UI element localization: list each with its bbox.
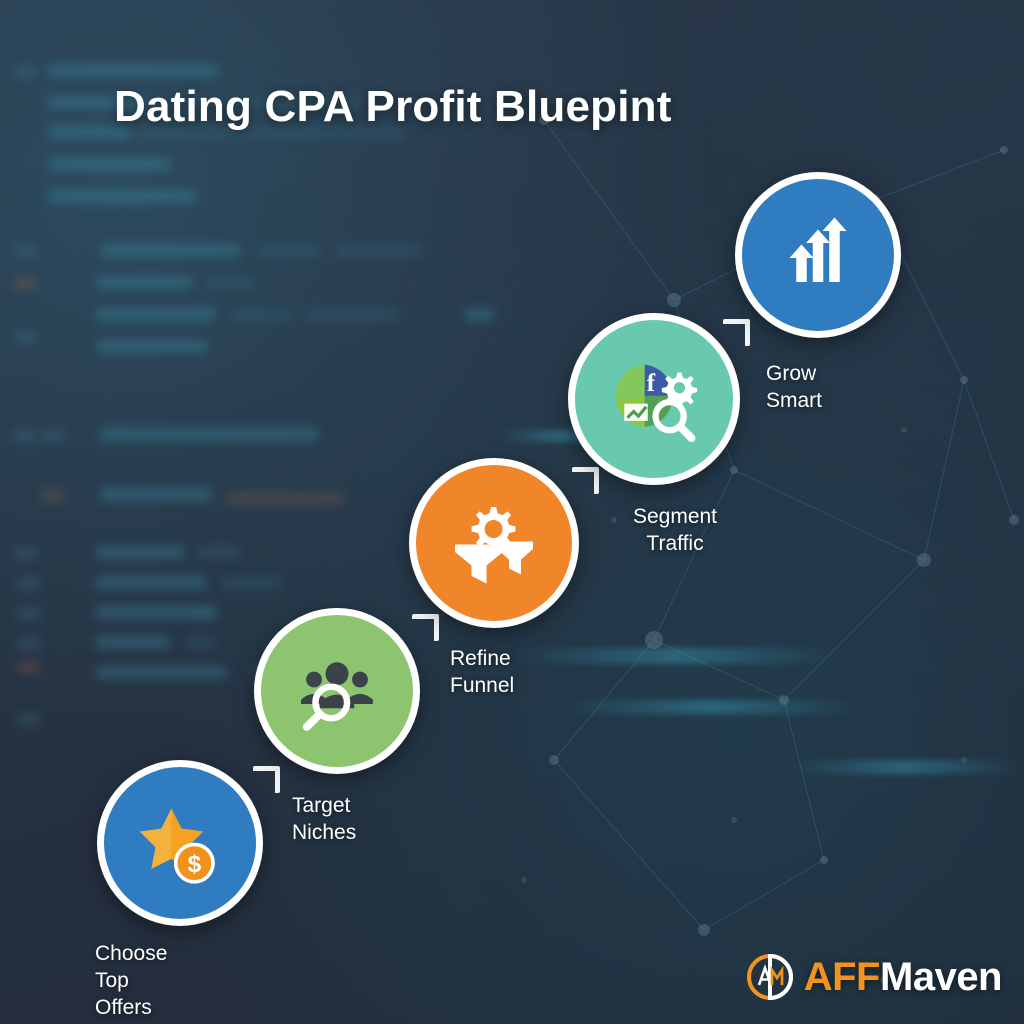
star-coin-icon: $ (134, 797, 226, 889)
audience-search-icon (291, 645, 383, 737)
step-4-bubble[interactable]: f (568, 313, 740, 485)
affmaven-monogram-icon (745, 952, 795, 1002)
step-2-label: Target Niches (292, 792, 356, 846)
step-5-label: Grow Smart (766, 360, 822, 414)
step-1-bubble[interactable]: $ (97, 760, 263, 926)
logo-text-aff: AFF (804, 955, 880, 999)
page-title: Dating CPA Profit Bluepint (114, 82, 672, 132)
step-3-bubble[interactable] (409, 458, 579, 628)
connector-bracket-3 (572, 467, 599, 494)
pie-channels-search-icon: f (604, 349, 704, 449)
step-1-label: Choose Top Offers (95, 940, 167, 1021)
svg-text:f: f (647, 370, 656, 397)
step-4-label: Segment Traffic (620, 503, 730, 557)
step-3-label: Refine Funnel (450, 645, 514, 699)
infographic-canvas: Dating CPA Profit Bluepint $ Choose Top … (0, 0, 1024, 1024)
connector-bracket-4 (723, 319, 750, 346)
brand-logo[interactable]: AFFMaven (745, 952, 1002, 1002)
connector-bracket-2 (412, 614, 439, 641)
growth-arrows-icon (770, 207, 866, 303)
step-5-bubble[interactable] (735, 172, 901, 338)
svg-text:$: $ (188, 851, 202, 878)
gear-funnel-icon (446, 495, 542, 591)
logo-text-maven: Maven (880, 955, 1002, 999)
connector-bracket-1 (253, 766, 280, 793)
step-2-bubble[interactable] (254, 608, 420, 774)
